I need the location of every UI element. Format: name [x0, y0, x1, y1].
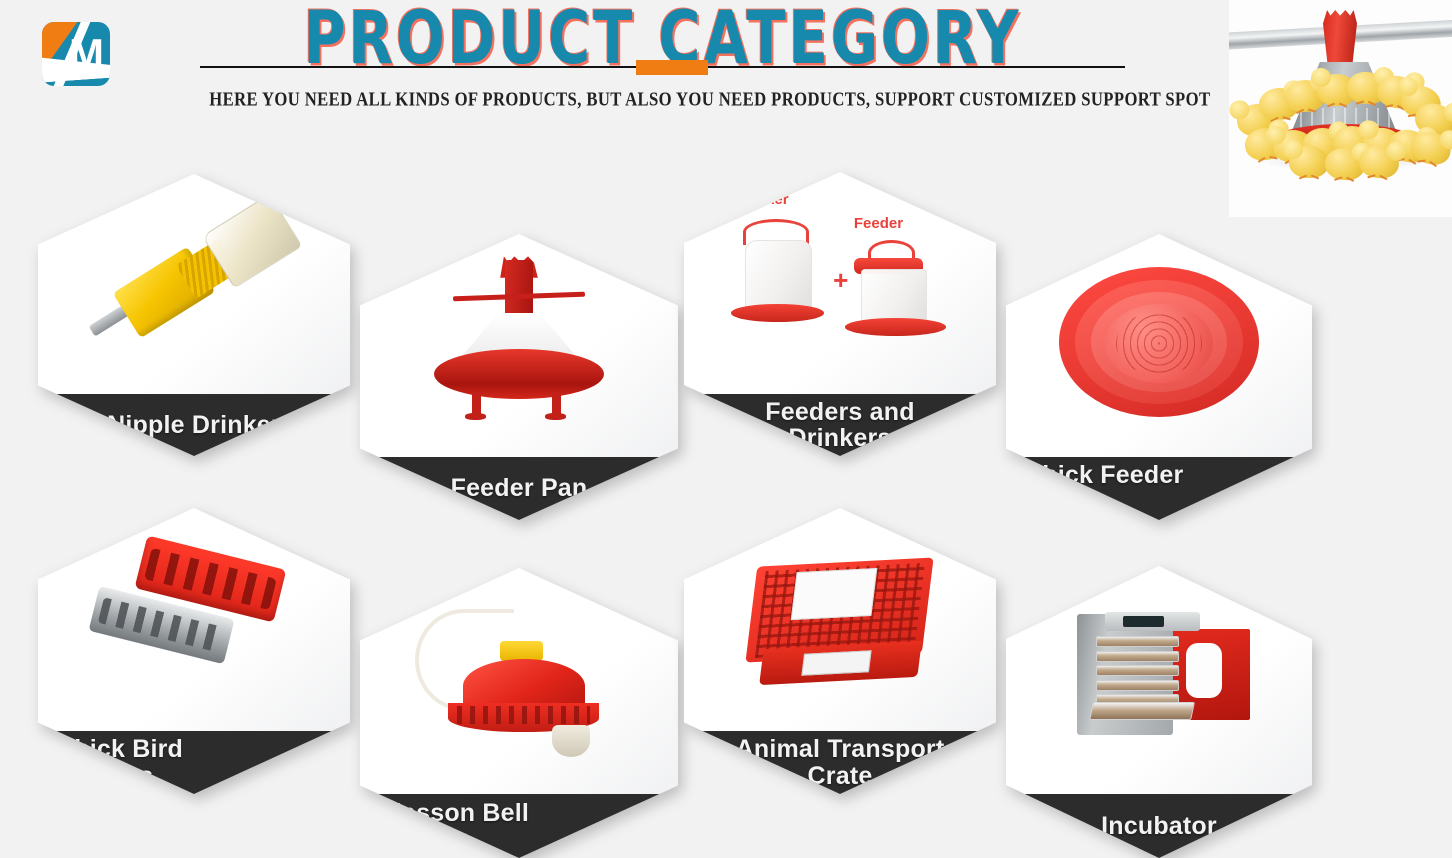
- animal-transport-crate-image: [684, 508, 996, 731]
- card-label: Feeders and Drinkers: [765, 399, 914, 452]
- chick-leg: [1417, 160, 1425, 163]
- chick-feeder-tray-image: [1006, 234, 1312, 457]
- chick: [1289, 146, 1329, 178]
- card-label-band: Feeder Pan: [360, 457, 678, 520]
- card-label: Plasson Bell Drinker: [378, 800, 529, 853]
- product-card-plasson-bell-drinker[interactable]: Plasson Bell Drinker: [360, 568, 678, 858]
- title-divider: [200, 60, 1125, 74]
- card-label-band: Feeders and Drinkers: [684, 394, 996, 456]
- feeder-pan-foot: [545, 413, 566, 420]
- tray-perforated-base: [1105, 304, 1214, 383]
- card-label-band: Chick Bird Feeders: [38, 731, 350, 794]
- egg-tray: [1096, 665, 1180, 676]
- product-card-animal-transport-crate[interactable]: Animal Transport Crate: [684, 508, 996, 794]
- product-card-feeders-and-drinkers[interactable]: Drinker Feeder + Feeders and Drinkers: [684, 172, 996, 456]
- card-label: Feeder Pan: [451, 475, 588, 501]
- chick-feeder-tray-art: [1046, 256, 1272, 434]
- card-label: Chick Bird Feeders: [56, 736, 183, 789]
- crate-door: [801, 650, 871, 675]
- chick-leg: [1367, 174, 1375, 178]
- feeders-and-drinkers-image: Drinker Feeder +: [684, 172, 996, 394]
- card-label: Animal Transport Crate: [736, 736, 945, 789]
- feeder-pan-image: [360, 234, 678, 457]
- chick-head: [1283, 140, 1303, 159]
- chick-leg: [1429, 161, 1437, 167]
- egg-tray: [1096, 636, 1180, 647]
- card-label: Chick Feeder Tray: [1024, 462, 1183, 515]
- drinker-valve: [552, 725, 590, 758]
- plasson-bell-drinker-image: [360, 568, 678, 794]
- page-subtitle: HERE YOU NEED ALL KINDS OF PRODUCTS, BUT…: [209, 88, 1116, 111]
- card-surface: Chick Bird Feeders: [38, 508, 350, 794]
- chick-bird-feeders-art: [79, 530, 310, 708]
- plasson-bell-drinker-art: [401, 591, 636, 772]
- card-label-band: Incubator: [1006, 794, 1312, 858]
- card-surface: Plasson Bell Drinker: [360, 568, 678, 858]
- feeder-pan-bowl: [434, 349, 603, 399]
- animal-transport-crate-art: [725, 530, 956, 708]
- product-card-incubator[interactable]: Incubator: [1006, 566, 1312, 858]
- chick-head: [1311, 68, 1331, 87]
- product-card-chick-feeder-tray[interactable]: Chick Feeder Tray: [1006, 234, 1312, 520]
- drinker-cap: [500, 641, 542, 661]
- logo-letter: M: [42, 22, 110, 86]
- chick-head: [1229, 99, 1251, 121]
- card-surface: Chick Feeder Tray: [1006, 234, 1312, 520]
- egg-tray: [1096, 680, 1180, 691]
- feeder-pan-top: [1323, 10, 1357, 66]
- chick-leg: [1346, 177, 1354, 182]
- chick-bird-feeders-image: [38, 508, 350, 731]
- chick-head: [1442, 101, 1452, 125]
- hero-photo-chicks-feeder: [1229, 0, 1452, 217]
- card-label-band: Plasson Bell Drinker: [360, 794, 678, 858]
- incubator-display: [1123, 616, 1164, 627]
- card-surface: Incubator: [1006, 566, 1312, 858]
- card-label-band: Animal Transport Crate: [684, 731, 996, 794]
- card-surface: Feeder Pan: [360, 234, 678, 520]
- inner-label-feeder: Feeder: [854, 215, 903, 232]
- inner-label-drinker: Drinker: [736, 191, 789, 208]
- card-label: Nipple Drinker: [107, 412, 281, 438]
- feeder-pan-art: [401, 256, 636, 434]
- feeder-pan-stem: [505, 260, 533, 314]
- product-card-chick-bird-feeders[interactable]: Chick Bird Feeders: [38, 508, 350, 794]
- product-card-feeder-pan[interactable]: Feeder Pan: [360, 234, 678, 520]
- egg-tray-pulled-out: [1089, 702, 1195, 720]
- chick-leg: [1385, 104, 1393, 108]
- chick: [1357, 144, 1400, 180]
- card-label-band: Nipple Drinker: [38, 394, 350, 456]
- incubator-art: [1046, 589, 1272, 771]
- incubator-image: [1006, 566, 1312, 794]
- chick-leg: [1311, 175, 1319, 180]
- company-logo[interactable]: M: [42, 22, 110, 86]
- card-surface: Nipple Drinker: [38, 174, 350, 456]
- plus-sign: +: [833, 265, 848, 296]
- feeder-base: [845, 318, 947, 336]
- card-surface: Drinker Feeder + Feeders and Drinkers: [684, 172, 996, 456]
- feeders-and-drinkers-art: Drinker Feeder +: [725, 194, 956, 371]
- chick-leg: [1334, 176, 1342, 180]
- nipple-drinker-image: [38, 174, 350, 394]
- feeder-pan-foot: [465, 413, 486, 420]
- product-card-nipple-drinker[interactable]: Nipple Drinker: [38, 174, 350, 456]
- incubator-window: [1186, 643, 1222, 698]
- drinker-jar: [745, 240, 812, 313]
- egg-tray: [1096, 651, 1180, 662]
- card-surface: Animal Transport Crate: [684, 508, 996, 794]
- nipple-drinker-art: [79, 196, 310, 372]
- drinker-base: [731, 304, 823, 322]
- chick-leg: [1379, 175, 1387, 181]
- crate-label: [791, 567, 878, 620]
- card-label: Incubator: [1101, 813, 1217, 839]
- chick-leg: [1299, 175, 1307, 180]
- card-label-band: Chick Feeder Tray: [1006, 457, 1312, 520]
- divider-accent-block: [636, 60, 708, 75]
